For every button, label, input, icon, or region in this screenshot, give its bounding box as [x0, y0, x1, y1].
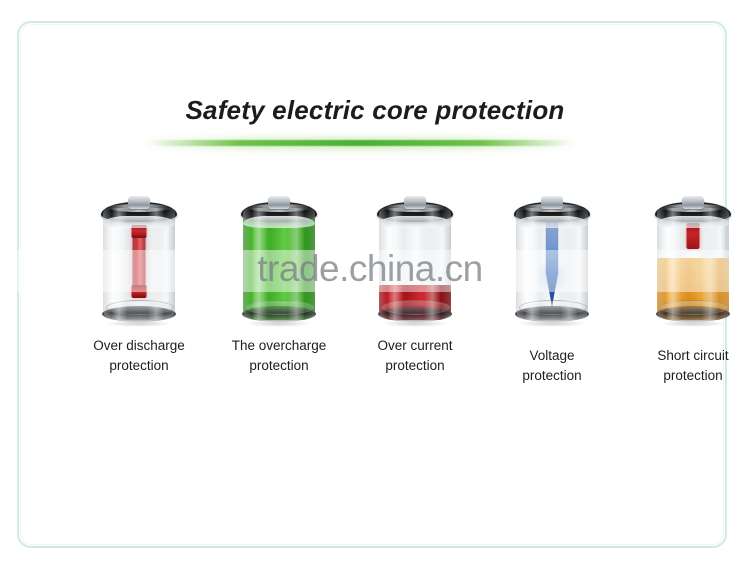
title-divider	[148, 140, 572, 146]
battery-terminal	[541, 196, 563, 209]
battery-icon-short-circuit	[654, 196, 732, 324]
feature-label-the-overcharge: The overcharge protection	[212, 336, 346, 377]
feature-label-over-discharge: Over discharge protection	[72, 336, 206, 377]
battery-base-ring	[382, 300, 450, 315]
battery-terminal	[268, 196, 290, 209]
feature-item-over-current: Over current protection	[348, 196, 482, 377]
feature-item-the-overcharge: The overcharge protection	[212, 196, 346, 377]
battery-rim	[379, 216, 451, 228]
battery-shadow	[382, 320, 448, 327]
battery-terminal	[404, 196, 426, 209]
feature-label-over-current: Over current protection	[348, 336, 482, 377]
feature-item-voltage: Voltage protection	[485, 196, 619, 387]
promo-banner: Safety electric core protection Over	[0, 0, 750, 562]
battery-shadow	[106, 320, 172, 327]
battery-shadow	[519, 320, 585, 327]
battery-indicator-cap-bottom	[132, 285, 147, 298]
protection-feature-row: Over discharge protection The overcharge…	[40, 196, 710, 396]
battery-shadow	[660, 320, 726, 327]
battery-base-ring	[519, 300, 587, 315]
battery-icon-the-overcharge	[240, 196, 318, 324]
battery-shadow	[246, 320, 312, 327]
battery-base-ring	[660, 300, 728, 315]
page-title: Safety electric core protection	[0, 95, 750, 126]
battery-icon-over-discharge	[100, 196, 178, 324]
battery-terminal	[682, 196, 704, 209]
feature-label-voltage: Voltage protection	[485, 346, 619, 387]
battery-rim	[243, 216, 315, 228]
battery-rim	[516, 216, 588, 228]
feature-label-short-circuit: Short circuit protection	[626, 346, 750, 387]
battery-base-ring	[106, 300, 174, 315]
feature-item-short-circuit: Short circuit protection	[626, 196, 750, 387]
feature-item-over-discharge: Over discharge protection	[72, 196, 206, 377]
battery-terminal	[128, 196, 150, 209]
battery-icon-voltage	[513, 196, 591, 324]
battery-base-ring	[246, 300, 314, 315]
battery-icon-over-current	[376, 196, 454, 324]
battery-rim	[103, 216, 175, 228]
battery-rim	[657, 216, 729, 228]
